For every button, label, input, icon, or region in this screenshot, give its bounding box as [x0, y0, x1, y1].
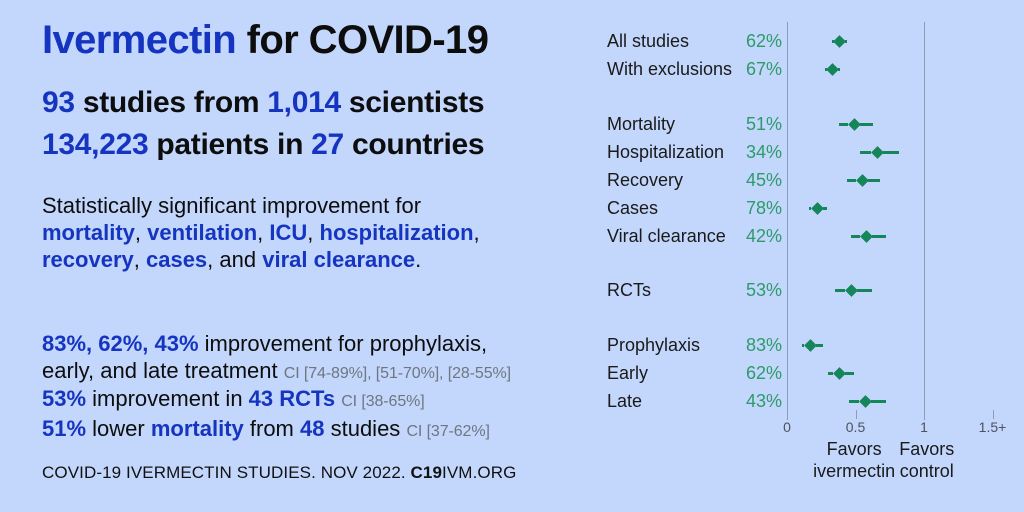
forest-plot-row: Recovery45% [596, 167, 1024, 193]
forest-plot-row: Mortality51% [596, 111, 1024, 137]
source-footer: COVID-19 IVERMECTIN STUDIES. NOV 2022. C… [42, 463, 516, 483]
axis-tick-label: 0.5 [832, 419, 880, 435]
confidence-interval-left [849, 400, 859, 403]
scientists-count: 1,014 [267, 86, 341, 119]
favors-control-label-line2: control [862, 460, 992, 482]
row-improvement-pct: 78% [596, 195, 782, 221]
row-improvement-pct: 53% [596, 277, 782, 303]
point-estimate-diamond [845, 284, 858, 297]
outcome-mortality: mortality [42, 220, 135, 245]
confidence-interval-right [883, 151, 899, 154]
forest-plot-row: All studies62% [596, 28, 1024, 54]
row-improvement-pct: 43% [596, 388, 782, 414]
point-estimate-diamond [833, 35, 846, 48]
rcts-ci: CI [38-65%] [341, 393, 424, 410]
row-improvement-pct: 83% [596, 332, 782, 358]
treatment-ci: CI [74-89%], [51-70%], [28-55%] [284, 365, 511, 382]
confidence-interval-right [816, 344, 822, 347]
row-improvement-pct: 67% [596, 56, 782, 82]
treatment-text-2: early, and late treatment [42, 358, 278, 383]
footer-brand: C19 [411, 463, 443, 482]
forest-plot: All studies62%With exclusions67%Mortalit… [596, 0, 1024, 512]
confidence-interval-left [839, 123, 848, 126]
treatment-values: 83%, 62%, 43% [42, 331, 199, 356]
forest-plot-row: Early62% [596, 360, 1024, 386]
footer-text: COVID-19 IVERMECTIN STUDIES. NOV 2022. [42, 463, 411, 482]
axis-tick-label: 1.5+ [969, 419, 1017, 435]
favors-control-label-line1: Favors [862, 438, 992, 460]
mortality-tail: studies [324, 416, 400, 441]
confidence-interval-right [868, 179, 880, 182]
text-panel: Ivermectin for COVID-19 93 studies from … [0, 0, 596, 512]
confidence-interval-right [860, 123, 873, 126]
row-improvement-pct: 42% [596, 223, 782, 249]
row-improvement-pct: 51% [596, 111, 782, 137]
mortality-study-count: 48 [300, 416, 324, 441]
page-title: Ivermectin for COVID-19 [42, 20, 488, 60]
outcome-cases: cases [146, 247, 207, 272]
infographic-root: Ivermectin for COVID-19 93 studies from … [0, 0, 1024, 512]
point-estimate-diamond [833, 367, 846, 380]
stats-line-studies: 93 studies from 1,014 scientists [42, 88, 484, 118]
confidence-interval-left [860, 151, 872, 154]
forest-plot-row: RCTs53% [596, 277, 1024, 303]
significant-period: . [415, 247, 421, 272]
significant-connector: and [219, 247, 256, 272]
patients-tail: countries [344, 128, 484, 161]
countries-count: 27 [311, 128, 344, 161]
mortality-emphasis: mortality [151, 416, 244, 441]
mortality-mid-2: from [244, 416, 300, 441]
outcome-hospitalization: hospitalization [320, 220, 474, 245]
stats-line-patients: 134,223 patients in 27 countries [42, 130, 484, 160]
row-improvement-pct: 62% [596, 360, 782, 386]
footer-domain: IVM.ORG [442, 463, 516, 482]
confidence-interval-right [871, 400, 886, 403]
axis-tick-label: 1 [900, 419, 948, 435]
outcome-viral-clearance: viral clearance [262, 247, 415, 272]
forest-plot-row: Cases78% [596, 195, 1024, 221]
axis-tick [924, 410, 925, 419]
point-estimate-diamond [826, 63, 839, 76]
point-estimate-diamond [856, 174, 869, 187]
forest-plot-row: Prophylaxis83% [596, 332, 1024, 358]
outcome-icu: ICU [269, 220, 307, 245]
studies-count: 93 [42, 86, 75, 119]
axis-tick [993, 410, 994, 419]
favors-control-label: Favorscontrol [862, 438, 992, 482]
point-estimate-diamond [811, 202, 824, 215]
confidence-interval-right [845, 372, 854, 375]
forest-plot-row: With exclusions67% [596, 56, 1024, 82]
paragraph-significant-outcomes: Statistically significant improvement fo… [42, 192, 480, 273]
forest-plot-row: Late43% [596, 388, 1024, 414]
axis-tick [787, 410, 788, 419]
studies-mid: studies from [75, 86, 268, 119]
line-rcts: 53% improvement in 43 RCTs CI [38-65%] [42, 385, 490, 415]
forest-plot-row: Viral clearance42% [596, 223, 1024, 249]
title-rest: for COVID-19 [236, 18, 488, 62]
point-estimate-diamond [860, 230, 873, 243]
confidence-interval-right [872, 235, 885, 238]
rcts-emphasis: 43 RCTs [249, 386, 335, 411]
point-estimate-diamond [859, 395, 872, 408]
forest-plot-row: Hospitalization34% [596, 139, 1024, 165]
axis-tick-label: 0 [763, 419, 811, 435]
line-mortality: 51% lower mortality from 48 studies CI [… [42, 415, 490, 445]
confidence-interval-left [851, 235, 860, 238]
studies-tail: scientists [341, 86, 484, 119]
point-estimate-diamond [848, 118, 861, 131]
paragraph-rcts-and-mortality: 53% improvement in 43 RCTs CI [38-65%] 5… [42, 385, 490, 445]
confidence-interval-left [835, 289, 845, 292]
mortality-pct: 51% [42, 416, 86, 441]
outcome-ventilation: ventilation [147, 220, 257, 245]
rcts-mid: improvement in [86, 386, 249, 411]
paragraph-treatment-stages: 83%, 62%, 43% improvement for prophylaxi… [42, 330, 511, 387]
outcome-recovery: recovery [42, 247, 134, 272]
significant-lead: Statistically significant improvement fo… [42, 193, 421, 218]
confidence-interval-right [857, 289, 872, 292]
patients-mid: patients in [148, 128, 311, 161]
title-emphasis: Ivermectin [42, 18, 236, 62]
point-estimate-diamond [871, 146, 884, 159]
confidence-interval-left [847, 179, 856, 182]
rcts-pct: 53% [42, 386, 86, 411]
mortality-ci: CI [37-62%] [406, 423, 489, 440]
patients-count: 134,223 [42, 128, 148, 161]
row-improvement-pct: 62% [596, 28, 782, 54]
treatment-text-1: improvement for prophylaxis, [199, 331, 488, 356]
mortality-mid-1: lower [86, 416, 151, 441]
row-improvement-pct: 45% [596, 167, 782, 193]
point-estimate-diamond [804, 339, 817, 352]
row-improvement-pct: 34% [596, 139, 782, 165]
axis-tick [856, 410, 857, 419]
